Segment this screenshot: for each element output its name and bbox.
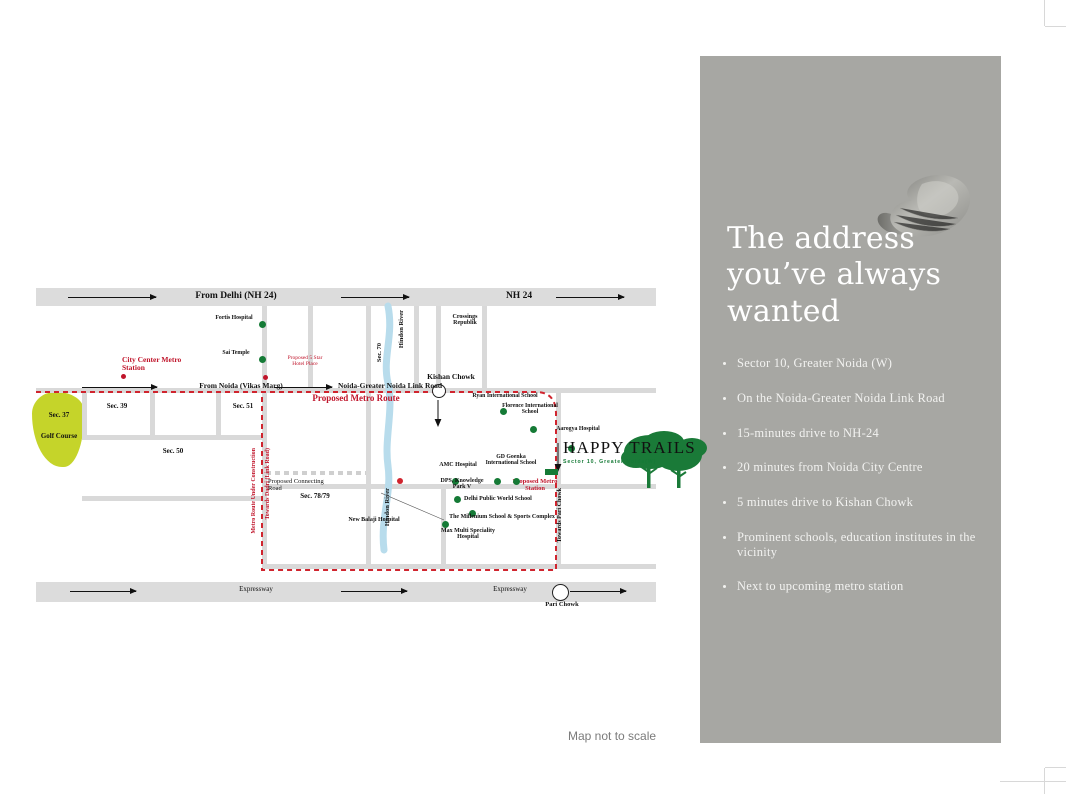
poi-dot-icon (259, 321, 266, 328)
list-item: Sector 10, Greater Noida (W) (723, 356, 993, 371)
list-item: Next to upcoming metro station (723, 579, 993, 594)
metro-label-proposed-hotel: Proposed 5 Star Hotel Place (282, 356, 328, 368)
river-label-hindon-upper: Hindon River (398, 310, 405, 348)
bullet-dot-icon (723, 501, 726, 504)
highway-label-expressway-right: Expressway (470, 586, 550, 594)
road-label-proposed-metro-route: Proposed Metro Route (286, 394, 426, 404)
map-scale-note: Map not to scale (568, 729, 656, 743)
feature-panel: The address you’ve always wanted Sector … (700, 56, 1001, 743)
page-bottom-rule (1000, 781, 1066, 782)
poi-label-aarogya-hospital: Aarogya Hospital (554, 426, 602, 432)
location-map: From Delhi (NH 24) NH 24 Expressway Expr… (36, 288, 656, 602)
project-logo: HAPPY TRAILS Sector 10, Greater Noida(W) (563, 438, 663, 465)
highway-label-nh24: NH 24 (484, 291, 554, 301)
list-item-label: Sector 10, Greater Noida (W) (737, 356, 993, 371)
list-item-label: 15-minutes drive to NH-24 (737, 426, 993, 441)
poi-dot-icon (513, 478, 520, 485)
list-item-label: Prominent schools, education institutes … (737, 530, 993, 560)
sector-label-78-79: Sec. 78/79 (286, 493, 344, 501)
poi-label-amc-hospital: AMC Hospital (432, 462, 484, 468)
list-item-label: 20 minutes from Noida City Centre (737, 460, 993, 475)
poi-label-ryan-international: Ryan International School (470, 393, 540, 399)
junction-label-kishan-chowk: Kishan Chowk (408, 373, 494, 381)
proposed-hotel-dot-icon (263, 375, 268, 380)
list-item: 15-minutes drive to NH-24 (723, 426, 993, 441)
feature-list: Sector 10, Greater Noida (W) On the Noid… (723, 356, 993, 614)
project-location-marker (545, 469, 558, 475)
poi-label-florence-international: Florence International School (502, 403, 558, 416)
sector-label-70: Sec. 70 (376, 343, 383, 362)
list-item: Prominent schools, education institutes … (723, 530, 993, 560)
crop-mark-top (1044, 0, 1045, 26)
road-label-proposed-connecting-road: Proposed Connecting Road (268, 478, 328, 492)
city-center-metro-dot-icon (121, 374, 126, 379)
poi-label-new-balaji-hospital: New Balaji Hospital (338, 517, 410, 523)
project-tagline: Sector 10, Greater Noida(W) (563, 459, 663, 465)
page-title: The address you’ve always wanted (727, 221, 987, 330)
road-label-metro-under-construction: Metro Route Under Construction (251, 448, 257, 534)
poi-label-max-hospital: Max Multi Speciality Hospital (432, 528, 504, 541)
project-name: HAPPY TRAILS (563, 438, 663, 458)
sector-label-golf-course: Golf Course (34, 433, 84, 441)
poi-label-fortis-hospital: Fortis Hospital (212, 315, 256, 321)
metro-label-proposed-station: Proposed Metro Station (502, 478, 568, 492)
poi-label-dps-knowledge-park: DPS, Knowledge Park V (436, 478, 488, 491)
sector-label-50: Sec. 50 (146, 448, 200, 456)
bullet-dot-icon (723, 397, 726, 400)
crop-mark-top-right (1045, 26, 1066, 27)
junction-pari-chowk (552, 584, 569, 601)
sector-label-51: Sec. 51 (216, 403, 270, 411)
highway-label-expressway-left: Expressway (216, 586, 296, 594)
list-item-label: Next to upcoming metro station (737, 579, 993, 594)
metro-label-city-center: City Center Metro Station (122, 356, 204, 372)
sector-label-crossings-republik: Crossings Republik (444, 314, 486, 327)
sector-label-39: Sec. 39 (90, 403, 144, 411)
poi-label-gd-goenka: GD Goenka International School (482, 454, 540, 467)
list-item-label: 5 minutes drive to Kishan Chowk (737, 495, 993, 510)
poi-dot-icon (494, 478, 501, 485)
bullet-dot-icon (723, 536, 726, 539)
list-item: On the Noida-Greater Noida Link Road (723, 391, 993, 406)
junction-label-pari-chowk: Pari Chowk (522, 601, 602, 608)
road-label-from-noida: From Noida (Vikas Marg) (166, 382, 316, 390)
poi-label-sai-temple: Sai Temple (216, 350, 256, 356)
sector-label-37: Sec. 37 (34, 412, 84, 420)
list-item: 20 minutes from Noida City Centre (723, 460, 993, 475)
list-item-label: On the Noida-Greater Noida Link Road (737, 391, 993, 406)
road-label-link-road: Noida-Greater Noida Link Road (310, 382, 470, 390)
list-item: 5 minutes drive to Kishan Chowk (723, 495, 993, 510)
poi-label-delhi-public-world: Delhi Public World School (464, 496, 574, 502)
poi-dot-icon (530, 426, 537, 433)
bullet-dot-icon (723, 362, 726, 365)
poi-dot-icon (259, 356, 266, 363)
poi-dot-icon (454, 496, 461, 503)
poi-dot-icon (442, 521, 449, 528)
bullet-dot-icon (723, 585, 726, 588)
proposed-metro-station-dot-icon (397, 478, 403, 484)
crop-mark-bottom-right (1045, 767, 1066, 768)
poi-label-millenium-school: The Millenium School & Sports Complex (448, 514, 556, 520)
highway-label-from-delhi: From Delhi (NH 24) (146, 291, 326, 301)
